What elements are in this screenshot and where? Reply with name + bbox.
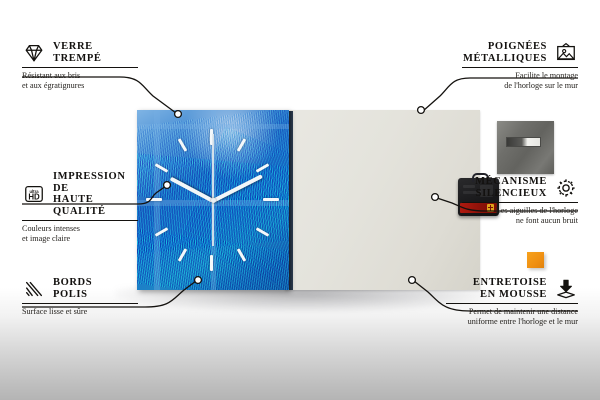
feature-callout-impression[interactable]: ultra HD IMPRESSION DE HAUTE QUALITÉ Cou… bbox=[22, 171, 138, 243]
callout-subtitle: Les aiguilles de l'horloge ne font aucun… bbox=[462, 206, 578, 225]
callout-rule bbox=[22, 303, 138, 304]
feature-callout-bords-polis[interactable]: BORDS POLIS Surface lisse et sûre bbox=[22, 277, 138, 317]
callout-rule bbox=[446, 303, 578, 304]
callout-subtitle: Permet de maintenir une distance uniform… bbox=[446, 307, 578, 326]
callout-subtitle: Surface lisse et sûre bbox=[22, 307, 138, 317]
callout-head: MÉCANISME SILENCIEUX bbox=[462, 176, 578, 199]
callout-subtitle: Facilite le montage de l'horloge sur le … bbox=[462, 71, 578, 90]
callout-head: ultra HD IMPRESSION DE HAUTE QUALITÉ bbox=[22, 171, 138, 217]
callout-head: ENTRETOISE EN MOUSSE bbox=[446, 277, 578, 300]
clock-glass-edge bbox=[289, 111, 293, 290]
callout-head: VERRE TREMPÉ bbox=[22, 41, 138, 64]
hour-tick bbox=[263, 198, 279, 201]
foam-spacer-arrow-icon bbox=[554, 278, 578, 300]
feature-callout-verre-trempe[interactable]: VERRE TREMPÉ Résistant aux bris et aux é… bbox=[22, 41, 138, 90]
polished-edges-icon bbox=[22, 278, 46, 300]
callout-title: BORDS POLIS bbox=[53, 277, 92, 300]
wall-clock bbox=[137, 110, 289, 290]
hour-tick bbox=[210, 255, 213, 271]
ultra-hd-icon-main-label: HD bbox=[28, 193, 40, 202]
product-illustration bbox=[137, 110, 480, 290]
clock-face bbox=[137, 110, 289, 290]
callout-title: IMPRESSION DE HAUTE QUALITÉ bbox=[53, 171, 138, 217]
callout-rule bbox=[462, 202, 578, 203]
feature-callout-entretoise[interactable]: ENTRETOISE EN MOUSSE Permet de maintenir… bbox=[446, 277, 578, 326]
grid-line bbox=[137, 124, 289, 129]
callout-head: BORDS POLIS bbox=[22, 277, 138, 300]
callout-title: POIGNÉES MÉTALLIQUES bbox=[463, 41, 547, 64]
picture-frame-hanger-icon bbox=[554, 42, 578, 64]
clock-back-panel bbox=[285, 110, 480, 290]
clock-hub bbox=[211, 198, 216, 203]
callout-title: ENTRETOISE EN MOUSSE bbox=[473, 277, 547, 300]
callout-title: MÉCANISME SILENCIEUX bbox=[475, 176, 547, 199]
ultra-hd-icon: ultra HD bbox=[22, 183, 46, 205]
callout-subtitle: Résistant aux bris et aux égratignures bbox=[22, 71, 138, 90]
gear-icon bbox=[554, 177, 578, 199]
foam-spacer bbox=[527, 252, 544, 268]
callout-rule bbox=[22, 67, 138, 68]
metal-hanger-plate bbox=[497, 121, 554, 174]
hour-tick bbox=[146, 198, 162, 201]
diamond-icon bbox=[22, 42, 46, 64]
callout-title: VERRE TREMPÉ bbox=[53, 41, 102, 64]
feature-callout-poignees[interactable]: POIGNÉES MÉTALLIQUES Facilite le montage… bbox=[462, 41, 578, 90]
callout-head: POIGNÉES MÉTALLIQUES bbox=[462, 41, 578, 64]
second-hand bbox=[212, 134, 214, 246]
callout-rule bbox=[22, 220, 138, 221]
hanger-slot bbox=[506, 137, 541, 147]
infographic-canvas: VERRE TREMPÉ Résistant aux bris et aux é… bbox=[0, 0, 600, 400]
callout-rule bbox=[462, 67, 578, 68]
callout-subtitle: Couleurs intenses et image claire bbox=[22, 224, 138, 243]
feature-callout-mecanisme[interactable]: MÉCANISME SILENCIEUX Les aiguilles de l'… bbox=[462, 176, 578, 225]
